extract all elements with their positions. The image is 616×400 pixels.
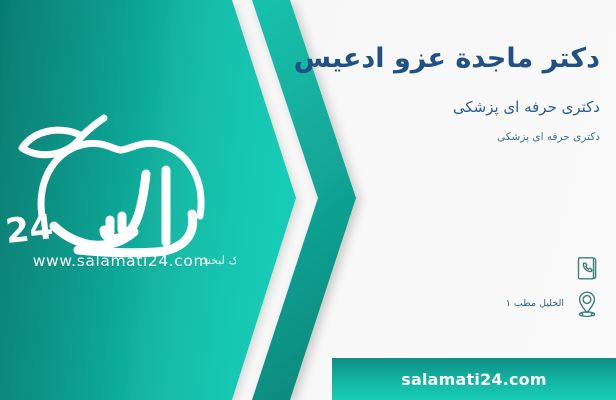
- svg-text:24: 24: [6, 207, 55, 252]
- location-pin-icon: [572, 288, 602, 320]
- contact-row-address[interactable]: الخليل مطب ۱: [302, 288, 602, 320]
- brand-logo: 24 به راحتی یک لبخند www.salamati24.com: [6, 104, 236, 276]
- doctor-specialty-secondary: دکتری حرفه ای پزشکی: [170, 131, 600, 143]
- logo-24-badge: 24: [6, 207, 55, 252]
- doctor-specialty: دکتری حرفه ای پزشکی: [170, 98, 600, 116]
- footer-bar[interactable]: salamati24.com: [332, 358, 616, 400]
- logo-url-text: www.salamati24.com: [6, 252, 236, 270]
- contact-row-phone[interactable]: [302, 252, 602, 284]
- salamati-apple-logo-icon: 24 به راحتی یک لبخند: [6, 104, 236, 276]
- doctor-name: دکتر ماجدة عزو ادعيس: [170, 42, 600, 76]
- phonebook-icon: [572, 252, 602, 284]
- footer-url-text: salamati24.com: [401, 370, 547, 389]
- contact-address-label: الخليل مطب ۱: [506, 298, 564, 309]
- business-card: 24 به راحتی یک لبخند www.salamati24.com …: [0, 0, 616, 400]
